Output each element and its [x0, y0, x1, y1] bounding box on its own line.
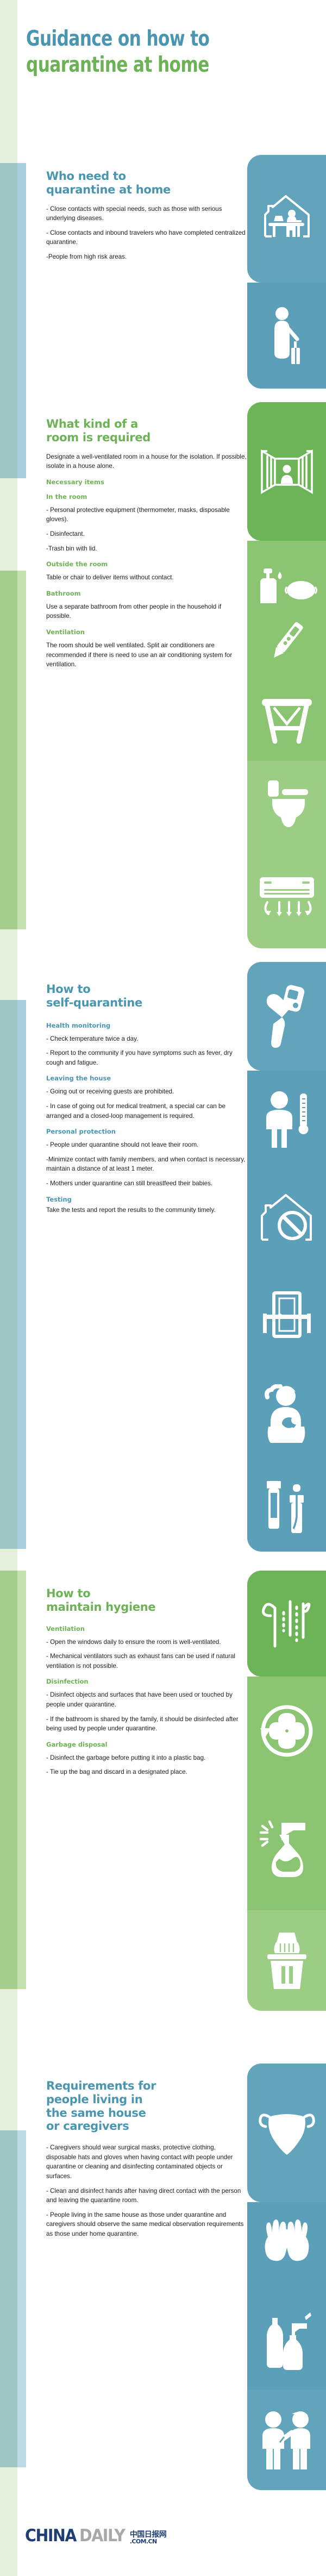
- hygiene-body-7: - Disinfect the garbage before putting i…: [46, 1753, 247, 1763]
- room-body-9: Use a separate bathroom from other peopl…: [46, 602, 247, 621]
- person-with-thermometer-icon: [260, 1089, 314, 1150]
- logo-cn-block: 中国日报网 .COM.CN: [130, 2531, 167, 2545]
- mother-breastfeeding-icon: [261, 1384, 313, 1445]
- house-with-person-at-desk-icon: [261, 195, 313, 243]
- rail-decor-teal-1: [0, 163, 17, 478]
- spray-bottle-icon: [258, 1816, 316, 1879]
- room-sub-in-the-room: In the room: [46, 493, 247, 501]
- room-body-0: Designate a well-ventilated room in a ho…: [46, 452, 247, 471]
- selfq-body-9: - Mothers under quarantine can still bre…: [46, 1179, 247, 1189]
- rail-decor-green-top: [0, 0, 17, 163]
- section-title-caregivers-line-3: the same house: [46, 2106, 247, 2120]
- section-title-room-line-1: What kind of a: [46, 417, 247, 431]
- selfq-body-2: - Report to the community if you have sy…: [46, 1048, 247, 1067]
- logo-text-daily: DAILY: [79, 2526, 124, 2546]
- airflow-icon: [261, 1594, 313, 1654]
- room-body-5: -Trash bin with lid.: [46, 544, 247, 554]
- icon-card-exhaust-fan: [247, 1677, 326, 1785]
- section-title-who-line-2: quarantine at home: [46, 183, 247, 197]
- room-sub-ventilation: Ventilation: [46, 628, 247, 636]
- rail-decor-green-6: [0, 1989, 17, 2130]
- who-body-0: - Close contacts with special needs, suc…: [46, 204, 247, 223]
- disinfectant-bottles-icon: [258, 2309, 316, 2370]
- gloves-icon: [257, 2218, 317, 2273]
- closed-door-icon: [260, 1291, 314, 1343]
- who-body-2: -People from high risk areas.: [46, 252, 247, 262]
- rail-inner-teal-3: [17, 2130, 26, 2467]
- open-window-with-person-icon: [259, 447, 315, 497]
- hygiene-body-8: - Tie up the bag and discard in a design…: [46, 1767, 247, 1777]
- icon-card-table-chair: [247, 682, 326, 761]
- section-title-room-line-2: room is required: [46, 431, 247, 445]
- caregivers-body-1: - Clean and disinfect hands after having…: [46, 2186, 247, 2205]
- icon-card-closed-door: [247, 1269, 326, 1364]
- page-title-line-1: Guidance on how to: [26, 28, 243, 50]
- section-title-caregivers-line-2: people living in: [46, 2093, 247, 2106]
- air-conditioner-icon: [256, 875, 317, 922]
- icon-card-surgical-mask: [247, 2064, 326, 2202]
- icon-card-disinfectant-bottles: [247, 2289, 326, 2390]
- icon-card-open-window: [247, 402, 326, 541]
- section-title-selfq-line-1: How to: [46, 983, 247, 996]
- hygiene-sub-ventilation: Ventilation: [46, 1625, 247, 1633]
- rail-inner-teal-2: [17, 1000, 26, 1549]
- icon-card-infrared-thermometer: [247, 962, 326, 1071]
- icon-card-spray-bottle: [247, 1785, 326, 1910]
- selfq-body-5: - In case of going out for medical treat…: [46, 1102, 247, 1121]
- section-text-hygiene: How to maintain hygiene Ventilation - Op…: [46, 1587, 247, 1777]
- section-text-room: What kind of a room is required Designat…: [46, 417, 247, 670]
- selfq-body-4: - Going out or receiving guests are proh…: [46, 1087, 247, 1097]
- section-title-hygiene-line-2: maintain hygiene: [46, 1600, 247, 1614]
- section-title-selfq-line-2: self-quarantine: [46, 996, 247, 1010]
- icon-card-caregiver: [247, 2390, 326, 2490]
- exhaust-fan-icon: [258, 1702, 316, 1760]
- logo-text-han: 中国日报网: [130, 2531, 167, 2539]
- infographic-page: Guidance on how to quarantine at home: [0, 0, 326, 2576]
- traveler-with-suitcase-icon: [267, 307, 306, 365]
- icon-card-house-desk: [247, 155, 326, 283]
- selfq-body-7: - People under quarantine should not lea…: [46, 1140, 247, 1150]
- room-body-4: - Disinfectant.: [46, 529, 247, 539]
- toilet-icon: [262, 778, 311, 830]
- surgical-mask-icon: [257, 2108, 317, 2158]
- hygiene-sub-disinfection: Disinfection: [46, 1678, 247, 1685]
- room-sub-bathroom: Bathroom: [46, 590, 247, 597]
- rail-decor-green-5: [0, 1571, 17, 1989]
- hygiene-body-4: - Disinfect objects and surfaces that ha…: [46, 1690, 247, 1709]
- room-body-7: Table or chair to deliver items without …: [46, 573, 247, 583]
- section-text-selfq: How to self-quarantine Health monitoring…: [46, 983, 247, 1215]
- selfq-body-8: -Minimize contact with family members, a…: [46, 1155, 247, 1174]
- selfq-sub-health-monitoring: Health monitoring: [46, 1022, 247, 1029]
- icon-card-air-conditioner: [247, 848, 326, 948]
- room-sub-necessary-items: Necessary items: [46, 478, 247, 486]
- caregivers-body-0: - Caregivers should wear surgical masks,…: [46, 2143, 247, 2181]
- page-title: Guidance on how to quarantine at home: [26, 28, 298, 76]
- table-chair-icon: [260, 696, 314, 748]
- icon-card-test-tube-swab: [247, 1465, 326, 1552]
- rail-decor-teal-2: [0, 1000, 17, 1549]
- section-text-who: Who need to quarantine at home - Close c…: [46, 170, 247, 262]
- rail-decor-green-7: [0, 2467, 17, 2576]
- infrared-thermometer-icon: [264, 985, 310, 1048]
- rail-decor-teal-3: [0, 2130, 17, 2467]
- section-title-who-line-1: Who need to: [46, 170, 247, 183]
- page-title-line-2: quarantine at home: [26, 54, 243, 76]
- selfq-sub-leaving-the-house: Leaving the house: [46, 1074, 247, 1082]
- chinadaily-logo: CHINA DAILY 中国日报网 .COM.CN: [25, 2526, 166, 2546]
- section-title-caregivers-line-1: Requirements for: [46, 2079, 247, 2093]
- trash-bag-bin-icon: [261, 1930, 313, 1991]
- test-tube-swab-icon: [264, 1480, 310, 1536]
- icon-card-toilet: [247, 761, 326, 848]
- logo-text-china: CHINA: [25, 2526, 76, 2546]
- hygiene-body-1: - Open the windows daily to ensure the r…: [46, 1637, 247, 1647]
- rail-inner-green-2: [17, 571, 26, 929]
- room-body-11: The room should be well ventilated. Spli…: [46, 641, 247, 670]
- rail-decor-green-3: [0, 929, 17, 1000]
- rail-inner-green-5: [17, 1571, 26, 1989]
- caregivers-body-2: - People living in the same house as tho…: [46, 2210, 247, 2239]
- section-title-caregivers-line-4: or caregivers: [46, 2119, 247, 2133]
- icon-card-traveler: [247, 283, 326, 389]
- icon-card-person-thermometer: [247, 1071, 326, 1168]
- icon-card-airflow: [247, 1571, 326, 1677]
- rail-decor-green-2: [0, 571, 17, 929]
- hygiene-sub-garbage-disposal: Garbage disposal: [46, 1741, 247, 1748]
- room-body-3: - Personal protective equipment (thermom…: [46, 505, 247, 524]
- who-body-1: - Close contacts and inbound travelers w…: [46, 228, 247, 247]
- section-text-caregivers: Requirements for people living in the sa…: [46, 2079, 247, 2239]
- selfq-body-1: - Check temperature twice a day.: [46, 1034, 247, 1044]
- hygiene-body-2: - Mechanical ventilators such as exhaust…: [46, 1652, 247, 1671]
- hygiene-body-5: - If the bathroom is shared by the famil…: [46, 1715, 247, 1734]
- no-leaving-house-icon: [259, 1194, 315, 1244]
- caregiver-with-person-icon: [257, 2410, 317, 2471]
- section-title-hygiene-line-1: How to: [46, 1587, 247, 1600]
- icon-card-mother-breastfeeding: [247, 1364, 326, 1465]
- icon-card-no-leaving-house: [247, 1168, 326, 1269]
- icon-card-gloves: [247, 2202, 326, 2289]
- icon-card-thermometer: [247, 603, 326, 682]
- thermometer-icon: [262, 615, 312, 665]
- rail-inner-teal-1: [17, 163, 26, 478]
- logo-text-domain: .COM.CN: [130, 2539, 157, 2545]
- icon-card-trash-bag-bin: [247, 1910, 326, 2011]
- selfq-sub-personal-protection: Personal protection: [46, 1128, 247, 1135]
- rail-decor-green-1: [0, 478, 17, 571]
- selfq-body-11: Take the tests and report the results to…: [46, 1205, 247, 1215]
- selfq-sub-testing: Testing: [46, 1196, 247, 1203]
- room-sub-outside-the-room: Outside the room: [46, 560, 247, 568]
